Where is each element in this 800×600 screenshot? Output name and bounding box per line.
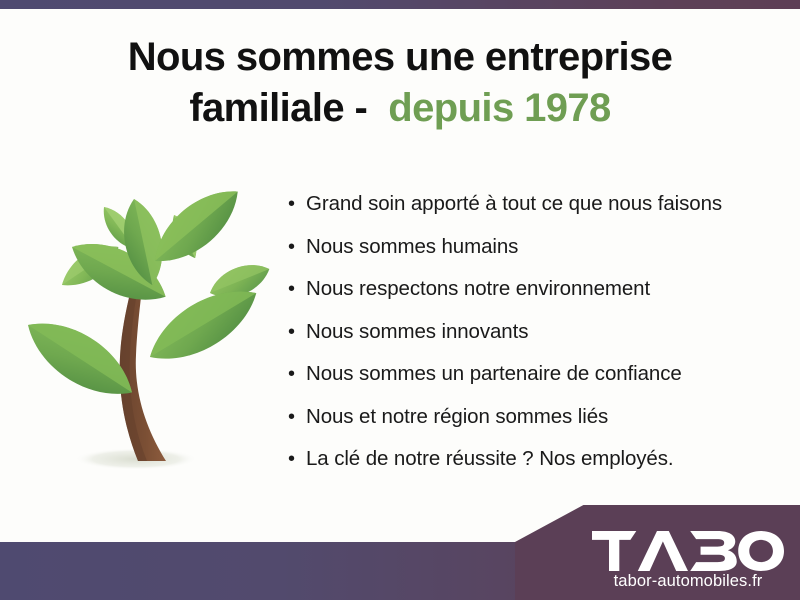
title-line-2: familiale - depuis 1978 (0, 85, 800, 132)
title-line-1: Nous sommes une entreprise (0, 34, 800, 81)
bullet-icon: • (288, 449, 306, 469)
brand-url: tabor-automobiles.fr (592, 572, 784, 591)
tree-illustration (14, 185, 276, 485)
brand-logo-panel: tabor-automobiles.fr (515, 505, 800, 600)
brand-logo: tabor-automobiles.fr (592, 531, 784, 591)
slide-title: Nous sommes une entreprise familiale - d… (0, 34, 800, 132)
value-bullet-list: • Grand soin apporté à tout ce que nous … (288, 192, 722, 490)
bullet-icon: • (288, 407, 306, 427)
list-item: • La clé de notre réussite ? Nos employé… (288, 447, 722, 490)
list-item-label: La clé de notre réussite ? Nos employés. (306, 447, 673, 471)
list-item: • Nous sommes humains (288, 235, 722, 278)
title-line-2-prefix: familiale (189, 86, 344, 130)
top-accent-bar (0, 0, 800, 9)
list-item: • Nous et notre région sommes liés (288, 405, 722, 448)
list-item: • Nous respectons notre environnement (288, 277, 722, 320)
list-item-label: Nous sommes innovants (306, 320, 528, 344)
tree-leaves (15, 185, 274, 412)
bullet-icon: • (288, 194, 306, 214)
slide-canvas: Nous sommes une entreprise familiale - d… (0, 0, 800, 600)
bullet-icon: • (288, 364, 306, 384)
bullet-icon: • (288, 279, 306, 299)
list-item: • Nous sommes un partenaire de confiance (288, 362, 722, 405)
title-dash (344, 86, 355, 130)
list-item-label: Nous sommes un partenaire de confiance (306, 362, 682, 386)
list-item: • Grand soin apporté à tout ce que nous … (288, 192, 722, 235)
list-item-label: Nous respectons notre environnement (306, 277, 650, 301)
list-item-label: Nous et notre région sommes liés (306, 405, 608, 429)
bullet-icon: • (288, 322, 306, 342)
tabor-wordmark-icon (592, 531, 784, 571)
title-line-2-dash: - (355, 86, 368, 130)
tree-svg (14, 185, 276, 485)
list-item: • Nous sommes innovants (288, 320, 722, 363)
title-line-2-accent: depuis 1978 (388, 86, 610, 130)
list-item-label: Nous sommes humains (306, 235, 518, 259)
list-item-label: Grand soin apporté à tout ce que nous fa… (306, 192, 722, 216)
bullet-icon: • (288, 237, 306, 257)
